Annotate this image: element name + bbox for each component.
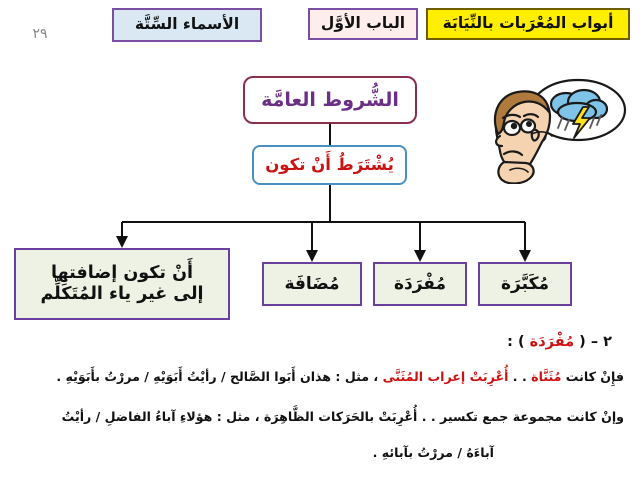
node-branch-idafa-ghayr-ya: أَنْ تكون إضافتها إلى غير ياء المُتَكَلِ… [14,248,230,320]
notes-segment: . . [508,369,531,384]
notes-paragraph-line-2: وإنْ كانت مجموعة جمع تكسير . . أُعْرِبَت… [62,411,624,424]
notes-heading-suffix: ) : [507,334,530,350]
header-box-topic: أبواب المُعْرَبات بالنِّيَابَة [426,8,630,40]
notes-segment: فإِنْ كانت [561,369,624,384]
header-box-subject: الأسماء السِّتَّة [112,8,262,42]
node-branch-mukabbara: مُكَبَّرَة [478,262,572,306]
notes-segment: ، مثل : هذان أَبَوا الصَّالح / رأيْتُ أَ… [56,369,382,384]
node-condition-required: يُشْتَرَطُ أَنْ تكون [252,145,407,185]
notes-paragraph-line-1: فإِنْ كانت مُثَنَّاة . . أُعْرِبَتْ إعرا… [56,371,624,384]
notes-segment: وإنْ كانت مجموعة جمع تكسير . . أُعْرِبَت… [62,409,624,424]
notes-segment: أُعْرِبَتْ إعراب المُثَنَّى [383,369,509,384]
notes-heading-prefix: ٢ – ( [574,334,612,350]
notes-paragraph-line-3: آباءَهُ / مررْتُ بآبائهِ . [373,447,494,460]
node-branch-mufrada: مُفْرَدَة [373,262,467,306]
thinking-man-storm-cloud-icon [486,62,636,184]
notes-heading-highlight: مُفْرَدَة [530,334,574,350]
node-branch-idafa-line-1: أَنْ تكون إضافتها [51,263,193,284]
notes-heading: ٢ – ( مُفْرَدَة ) : [507,334,612,350]
node-branch-mudafa: مُضَافَة [262,262,362,306]
node-general-conditions: الشُّروط العامَّة [243,76,417,124]
notes-segment: آباءَهُ / مررْتُ بآبائهِ . [373,445,494,460]
page-number: ٢٩ [14,26,66,42]
header-box-chapter: الباب الأوَّل [308,8,418,40]
page-root: ٢٩ أبواب المُعْرَبات بالنِّيَابَة الباب … [0,0,640,480]
notes-segment: مُثَنَّاة [531,369,561,384]
node-branch-idafa-line-2: إلى غير ياء المُتَكَلِّم [40,284,203,305]
